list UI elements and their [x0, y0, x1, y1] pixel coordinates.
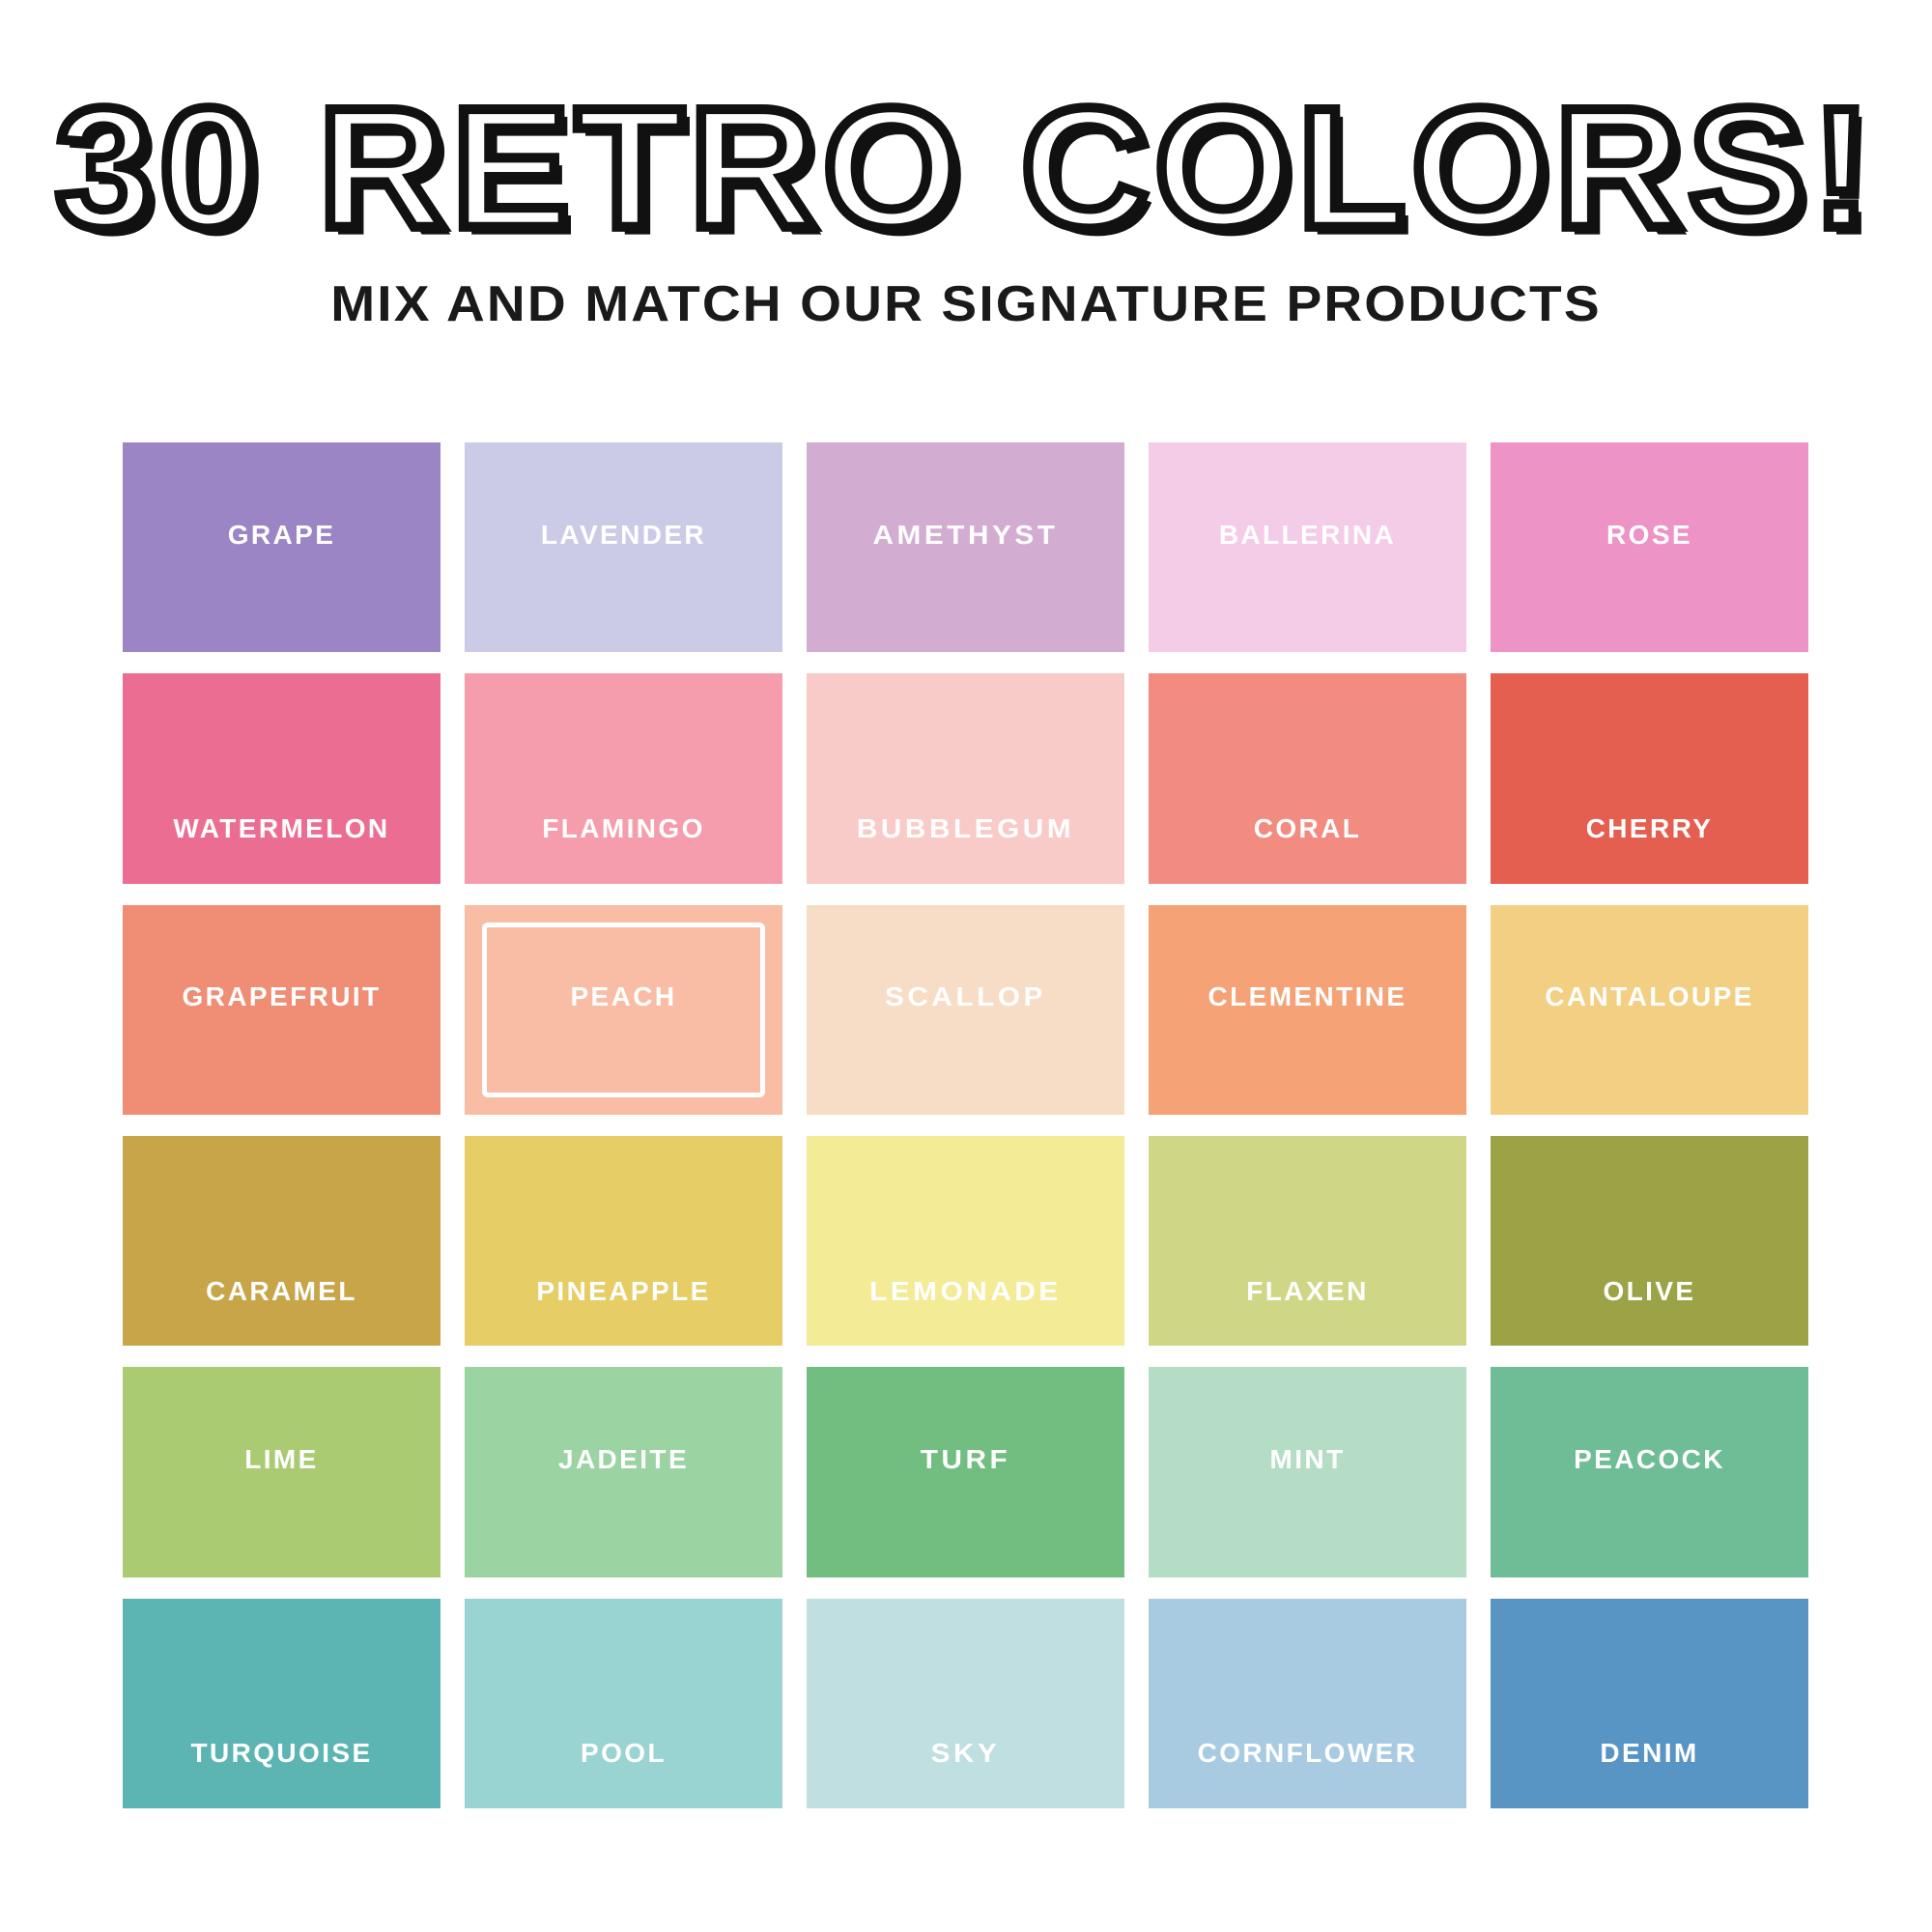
color-swatch-turquoise[interactable]: TURQUOISE	[123, 1599, 440, 1808]
color-swatch-pool[interactable]: POOL	[465, 1599, 782, 1808]
color-swatch-label: CANTALOUPE	[1491, 981, 1808, 1012]
color-swatch-grape[interactable]: GRAPE	[123, 442, 440, 652]
color-swatch-coral[interactable]: CORAL	[1149, 673, 1466, 883]
color-swatch-grapefruit[interactable]: GRAPEFRUIT	[123, 905, 440, 1115]
color-swatch-jadeite[interactable]: JADEITE	[465, 1367, 782, 1577]
color-swatch-grid: GRAPELAVENDERAMETHYSTBALLERINAROSEWATERM…	[123, 442, 1808, 1808]
color-swatch-label: JADEITE	[465, 1444, 782, 1475]
color-swatch-caramel[interactable]: CARAMEL	[123, 1136, 440, 1346]
color-swatch-label: MINT	[1149, 1444, 1466, 1475]
color-swatch-label: CORAL	[1149, 813, 1466, 844]
color-swatch-label: ROSE	[1491, 520, 1808, 551]
color-swatch-sky[interactable]: SKY	[807, 1599, 1124, 1808]
color-swatch-label: LAVENDER	[465, 520, 782, 551]
color-swatch-label: CHERRY	[1491, 813, 1808, 844]
color-swatch-label: CORNFLOWER	[1149, 1738, 1466, 1769]
color-swatch-flaxen[interactable]: FLAXEN	[1149, 1136, 1466, 1346]
color-swatch-turf[interactable]: TURF	[807, 1367, 1124, 1577]
poster-header: 30 RETRO COLORS! 30 RETRO COLORS! 30 RET…	[0, 0, 1932, 269]
color-swatch-label: PINEAPPLE	[465, 1276, 782, 1307]
color-swatch-scallop[interactable]: SCALLOP	[807, 905, 1124, 1115]
color-swatch-label: OLIVE	[1491, 1276, 1808, 1307]
color-swatch-label: DENIM	[1491, 1738, 1808, 1769]
color-swatch-label: PEACOCK	[1491, 1444, 1808, 1475]
color-swatch-denim[interactable]: DENIM	[1491, 1599, 1808, 1808]
color-swatch-label: GRAPE	[123, 520, 440, 551]
color-swatch-label: LEMONADE	[807, 1276, 1124, 1307]
poster-title: 30 RETRO COLORS! 30 RETRO COLORS! 30 RET…	[0, 75, 1932, 269]
color-swatch-bubblegum[interactable]: BUBBLEGUM	[807, 673, 1124, 883]
color-swatch-lemonade[interactable]: LEMONADE	[807, 1136, 1124, 1346]
color-swatch-mint[interactable]: MINT	[1149, 1367, 1466, 1577]
color-swatch-label: BUBBLEGUM	[807, 813, 1124, 844]
color-swatch-cornflower[interactable]: CORNFLOWER	[1149, 1599, 1466, 1808]
color-swatch-rose[interactable]: ROSE	[1491, 442, 1808, 652]
color-swatch-label: SKY	[807, 1738, 1124, 1769]
color-swatch-label: FLAXEN	[1149, 1276, 1466, 1307]
color-swatch-label: GRAPEFRUIT	[123, 981, 440, 1012]
color-swatch-pineapple[interactable]: PINEAPPLE	[465, 1136, 782, 1346]
color-swatch-cantaloupe[interactable]: CANTALOUPE	[1491, 905, 1808, 1115]
color-swatch-cherry[interactable]: CHERRY	[1491, 673, 1808, 883]
color-swatch-label: SCALLOP	[807, 981, 1124, 1012]
color-swatch-label: CARAMEL	[123, 1276, 440, 1307]
color-swatch-label: POOL	[465, 1738, 782, 1769]
color-swatch-label: LIME	[123, 1444, 440, 1475]
color-swatch-lavender[interactable]: LAVENDER	[465, 442, 782, 652]
color-swatch-peacock[interactable]: PEACOCK	[1491, 1367, 1808, 1577]
poster-subtitle: MIX AND MATCH OUR SIGNATURE PRODUCTS	[0, 276, 1932, 332]
color-swatch-peach[interactable]: PEACH	[465, 905, 782, 1115]
color-swatch-label: TURQUOISE	[123, 1738, 440, 1769]
color-swatch-label: TURF	[807, 1444, 1124, 1475]
color-swatch-olive[interactable]: OLIVE	[1491, 1136, 1808, 1346]
color-swatch-amethyst[interactable]: AMETHYST	[807, 442, 1124, 652]
color-swatch-label: CLEMENTINE	[1149, 981, 1466, 1012]
color-swatch-label: BALLERINA	[1149, 520, 1466, 551]
color-swatch-label: PEACH	[465, 981, 782, 1012]
color-swatch-label: AMETHYST	[807, 520, 1124, 551]
title-outline-layer: 30 RETRO COLORS!	[0, 75, 1932, 262]
color-swatch-flamingo[interactable]: FLAMINGO	[465, 673, 782, 883]
color-swatch-label: WATERMELON	[123, 813, 440, 844]
color-swatch-ballerina[interactable]: BALLERINA	[1149, 442, 1466, 652]
color-swatch-lime[interactable]: LIME	[123, 1367, 440, 1577]
color-palette-poster: 30 RETRO COLORS! 30 RETRO COLORS! 30 RET…	[0, 0, 1932, 1932]
color-swatch-clementine[interactable]: CLEMENTINE	[1149, 905, 1466, 1115]
color-swatch-label: FLAMINGO	[465, 813, 782, 844]
color-swatch-watermelon[interactable]: WATERMELON	[123, 673, 440, 883]
